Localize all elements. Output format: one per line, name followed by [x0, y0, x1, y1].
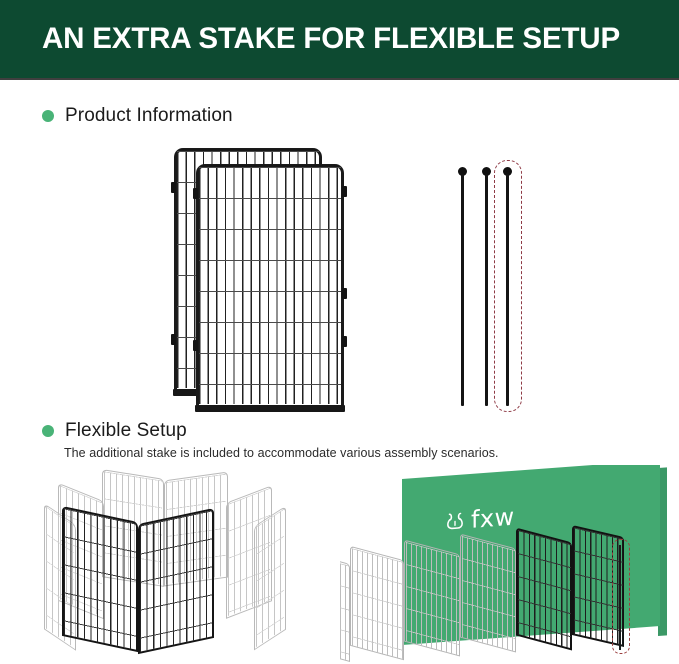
- panel-top-rail: [202, 165, 338, 167]
- ground-stake-1: [461, 174, 464, 406]
- paw-icon: [444, 509, 466, 533]
- green-dot-icon: [42, 110, 54, 122]
- wall-setup-panel-4: [460, 533, 516, 652]
- panel-connector-tab: [193, 188, 198, 199]
- section-subtitle-flexible-setup: The additional stake is included to acco…: [64, 446, 499, 460]
- panel-horizontal-bars: [199, 167, 341, 404]
- ground-stake-2: [485, 174, 488, 406]
- panel-connector-tab: [342, 288, 347, 299]
- ground-stakes-illustration: [452, 160, 532, 410]
- wall-setup-panel-5-highlighted: [516, 527, 572, 650]
- extra-stake-highlight-outline: [612, 539, 630, 654]
- fence-panel-front: [196, 164, 344, 412]
- section-title-flexible-setup: Flexible Setup: [65, 420, 187, 442]
- product-info-page: AN EXTRA STAKE FOR FLEXIBLE SETUP Produc…: [0, 0, 679, 664]
- extra-stake: [619, 545, 621, 650]
- panel-connector-tab: [342, 336, 347, 347]
- wall-setup-panel-2: [350, 546, 404, 660]
- section-heading-flexible-setup: Flexible Setup: [42, 420, 187, 442]
- wall-attached-setup-illustration: fxw: [340, 465, 679, 664]
- panel-connector-tab: [193, 340, 198, 351]
- fence-panels-illustration: [160, 140, 370, 410]
- ground-stake-3-extra: [506, 174, 509, 406]
- playpen-panel-front-right: [138, 508, 214, 654]
- panel-connector-tab: [171, 182, 176, 193]
- panel-top-rail: [180, 149, 316, 151]
- page-header-banner: AN EXTRA STAKE FOR FLEXIBLE SETUP: [0, 0, 679, 78]
- section-heading-product-information: Product Information: [42, 105, 233, 127]
- panel-bottom-rail: [195, 405, 345, 412]
- panel-connector-tab: [171, 334, 176, 345]
- header-divider: [0, 78, 679, 80]
- fxw-logo-text: fxw: [471, 505, 514, 532]
- wall-setup-panel-1: [340, 550, 350, 662]
- octagon-playpen-illustration: [36, 470, 316, 664]
- playpen-panel-right-side: [254, 506, 286, 651]
- playpen-panel-front-left: [62, 506, 138, 652]
- green-dot-icon: [42, 425, 54, 437]
- wall-setup-panel-3: [404, 539, 460, 656]
- page-title: AN EXTRA STAKE FOR FLEXIBLE SETUP: [42, 22, 620, 56]
- panel-connector-tab: [342, 186, 347, 197]
- section-title-product-information: Product Information: [65, 105, 233, 127]
